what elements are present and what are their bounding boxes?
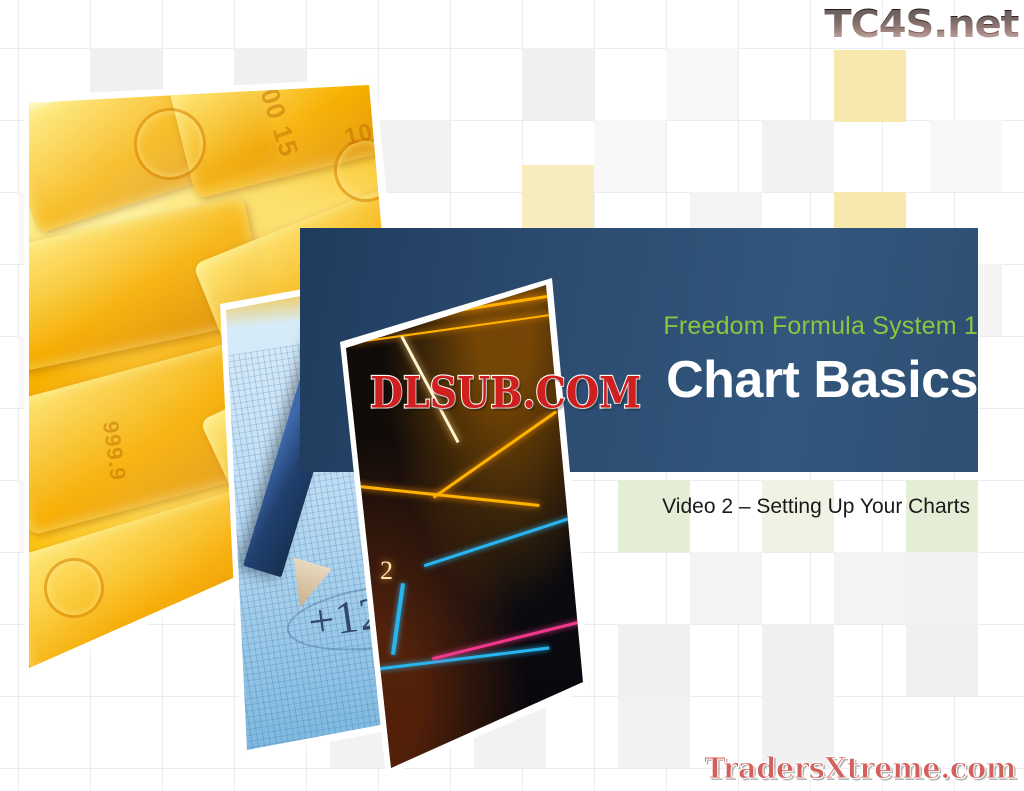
slide-eyebrow: Freedom Formula System 1 bbox=[578, 312, 978, 341]
background-cell bbox=[594, 120, 666, 192]
background-cell bbox=[522, 165, 594, 237]
slide-subtitle: Video 2 – Setting Up Your Charts bbox=[540, 495, 970, 519]
background-cell bbox=[834, 50, 906, 122]
background-cell bbox=[690, 552, 762, 624]
background-cell bbox=[906, 552, 978, 624]
neon-chart-label: 2 bbox=[380, 556, 393, 586]
background-cell bbox=[522, 48, 594, 120]
background-cell bbox=[906, 624, 978, 696]
background-cell bbox=[762, 120, 834, 192]
tradersxtreme-logo[interactable]: TradersXtreme.com bbox=[704, 751, 1016, 785]
background-cell bbox=[618, 696, 690, 768]
background-cell bbox=[834, 552, 906, 624]
background-cell bbox=[618, 624, 690, 696]
background-cell bbox=[930, 120, 1002, 192]
tc4s-logo[interactable]: TC4S.net bbox=[824, 2, 1018, 46]
slide-canvas: 100 15 10015 100 999.9 SWISS CORPORA +12… bbox=[0, 0, 1024, 791]
background-cell bbox=[666, 48, 738, 120]
dlsub-watermark: DLSUB.COM bbox=[370, 367, 641, 417]
background-cell bbox=[762, 624, 834, 696]
